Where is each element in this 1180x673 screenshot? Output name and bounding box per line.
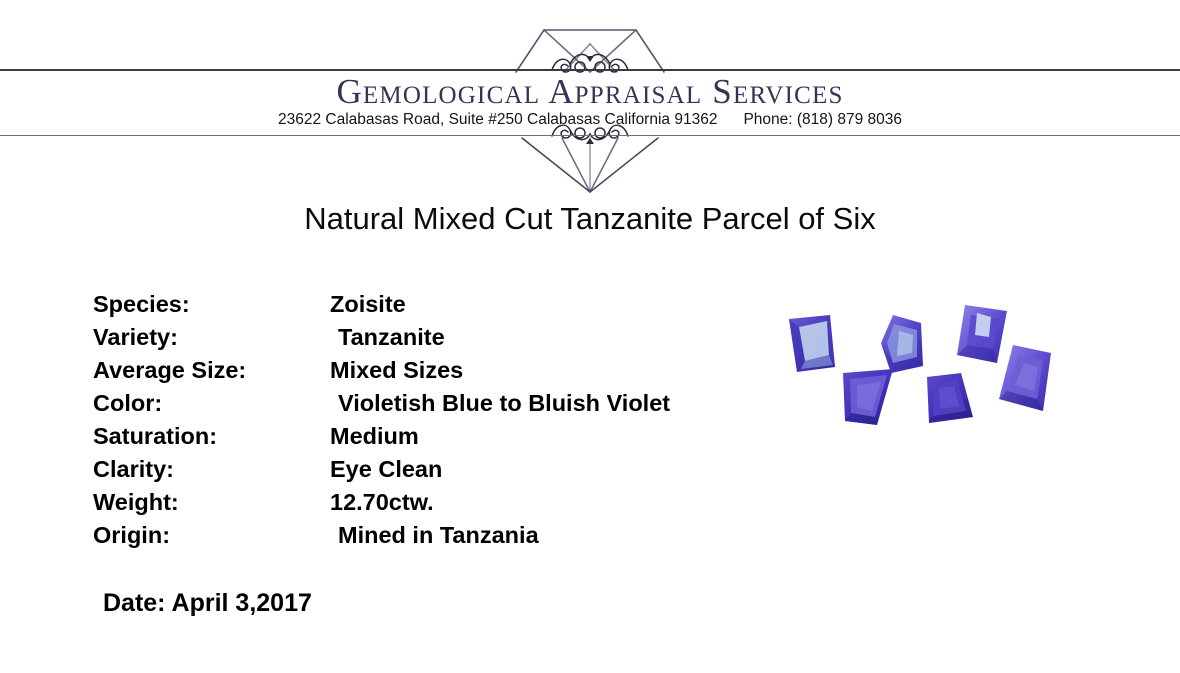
gemstone-6: [927, 373, 973, 423]
tanzanite-gemstones-photo: [775, 293, 1065, 448]
gemstone-5: [843, 369, 893, 425]
header-rule-top: [0, 69, 1180, 71]
contact-line: 23622 Calabasas Road, Suite #250 Calabas…: [0, 112, 1180, 128]
spec-row-average-size: Average Size: Mixed Sizes: [93, 357, 773, 390]
appraisal-date: Date: April 3,2017: [103, 589, 312, 618]
page-title: Natural Mixed Cut Tanzanite Parcel of Si…: [0, 200, 1180, 239]
spec-value-origin: Mined in Tanzania: [330, 522, 539, 549]
spec-label-saturation: Saturation:: [93, 423, 330, 450]
spec-row-origin: Origin: Mined in Tanzania: [93, 522, 773, 555]
spec-row-variety: Variety: Tanzanite: [93, 324, 773, 357]
spec-row-color: Color: Violetish Blue to Bluish Violet: [93, 390, 773, 423]
appraisal-document-page: Gemological Appraisal Services 23622 Cal…: [0, 0, 1180, 673]
letterhead: Gemological Appraisal Services 23622 Cal…: [0, 0, 1180, 200]
gem-specification-list: Species: Zoisite Variety: Tanzanite Aver…: [93, 291, 773, 555]
spec-row-species: Species: Zoisite: [93, 291, 773, 324]
spec-value-color: Violetish Blue to Bluish Violet: [330, 390, 670, 417]
spec-value-variety: Tanzanite: [330, 324, 445, 351]
spec-value-species: Zoisite: [330, 291, 406, 318]
company-phone: Phone: (818) 879 8036: [743, 111, 902, 128]
spec-value-clarity: Eye Clean: [330, 456, 442, 483]
header-rule-bottom: [0, 135, 1180, 136]
spec-row-clarity: Clarity: Eye Clean: [93, 456, 773, 489]
gemstone-1: [789, 315, 835, 372]
spec-label-species: Species:: [93, 291, 330, 318]
company-wordmark: Gemological Appraisal Services: [0, 74, 1180, 109]
spec-label-clarity: Clarity:: [93, 456, 330, 483]
gemstone-4: [999, 345, 1051, 411]
spec-value-weight: 12.70ctw.: [330, 489, 434, 516]
company-address: 23622 Calabasas Road, Suite #250 Calabas…: [278, 111, 717, 128]
spec-label-average-size: Average Size:: [93, 357, 330, 384]
spec-value-saturation: Medium: [330, 423, 419, 450]
spec-label-color: Color:: [93, 390, 330, 417]
spec-row-saturation: Saturation: Medium: [93, 423, 773, 456]
gemstone-2: [881, 315, 923, 373]
spec-value-average-size: Mixed Sizes: [330, 357, 463, 384]
gemstone-3: [957, 305, 1007, 363]
spec-label-weight: Weight:: [93, 489, 330, 516]
spec-label-origin: Origin:: [93, 522, 330, 549]
spec-row-weight: Weight: 12.70ctw.: [93, 489, 773, 522]
spec-label-variety: Variety:: [93, 324, 330, 351]
